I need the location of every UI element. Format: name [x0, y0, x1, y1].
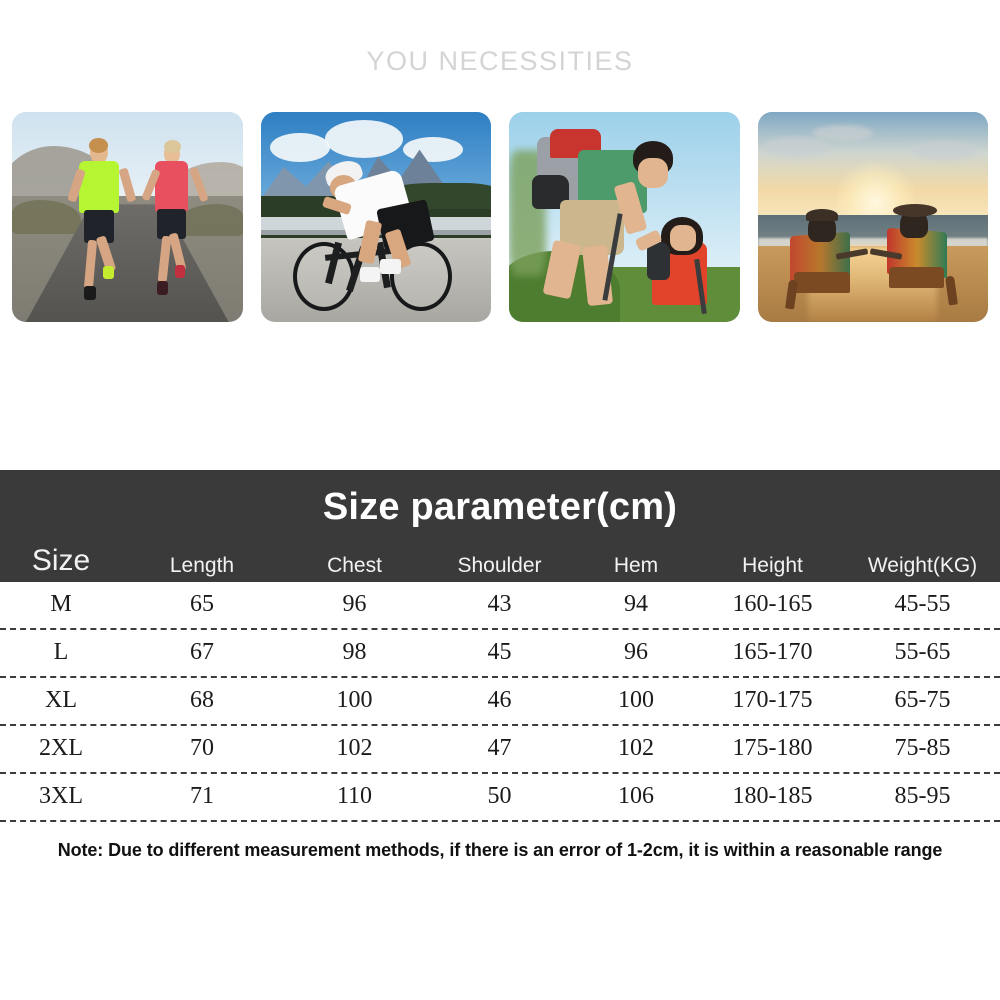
- column-header-weight: Weight(KG): [845, 554, 1000, 578]
- cell-length: 71: [122, 783, 282, 810]
- cycling-photo-scene: [261, 112, 492, 322]
- beach-photo: [758, 112, 989, 322]
- running-photo-scene: [12, 112, 243, 322]
- size-chart-header: Size parameter(cm) Size Length Chest Sho…: [0, 470, 1000, 582]
- cell-shoulder: 46: [427, 687, 572, 714]
- cell-hem: 94: [572, 591, 700, 618]
- hiking-photo-scene: [509, 112, 740, 322]
- cell-chest: 110: [282, 783, 427, 810]
- size-chart: Size parameter(cm) Size Length Chest Sho…: [0, 470, 1000, 925]
- cell-chest: 100: [282, 687, 427, 714]
- cell-size: L: [0, 639, 122, 666]
- cell-size: XL: [0, 687, 122, 714]
- column-header-hem: Hem: [572, 554, 700, 578]
- cell-hem: 106: [572, 783, 700, 810]
- column-header-length: Length: [122, 554, 282, 578]
- cell-weight: 85-95: [845, 783, 1000, 810]
- cell-weight: 55-65: [845, 639, 1000, 666]
- cell-chest: 98: [282, 639, 427, 666]
- cell-shoulder: 43: [427, 591, 572, 618]
- cell-hem: 102: [572, 735, 700, 762]
- table-row: M 65 96 43 94 160-165 45-55: [0, 582, 1000, 630]
- cell-size: 3XL: [0, 783, 122, 810]
- cell-weight: 65-75: [845, 687, 1000, 714]
- table-row: L 67 98 45 96 165-170 55-65: [0, 630, 1000, 678]
- lifestyle-photo-strip: [12, 112, 988, 322]
- cell-shoulder: 47: [427, 735, 572, 762]
- running-photo: [12, 112, 243, 322]
- cell-size: M: [0, 591, 122, 618]
- column-header-chest: Chest: [282, 554, 427, 578]
- cell-chest: 96: [282, 591, 427, 618]
- cell-weight: 45-55: [845, 591, 1000, 618]
- beach-photo-scene: [758, 112, 989, 322]
- cell-height: 165-170: [700, 639, 845, 666]
- cycling-photo: [261, 112, 492, 322]
- banner-title: YOU NECESSITIES: [0, 46, 1000, 77]
- table-row: 2XL 70 102 47 102 175-180 75-85: [0, 726, 1000, 774]
- cell-length: 67: [122, 639, 282, 666]
- cell-height: 175-180: [700, 735, 845, 762]
- column-header-size: Size: [0, 544, 122, 578]
- cell-length: 68: [122, 687, 282, 714]
- cell-length: 65: [122, 591, 282, 618]
- cell-length: 70: [122, 735, 282, 762]
- column-header-height: Height: [700, 554, 845, 578]
- cell-size: 2XL: [0, 735, 122, 762]
- size-chart-note: Note: Due to different measurement metho…: [0, 822, 1000, 861]
- cell-weight: 75-85: [845, 735, 1000, 762]
- cell-shoulder: 50: [427, 783, 572, 810]
- cell-height: 160-165: [700, 591, 845, 618]
- table-row: XL 68 100 46 100 170-175 65-75: [0, 678, 1000, 726]
- cell-hem: 96: [572, 639, 700, 666]
- hiking-photo: [509, 112, 740, 322]
- table-row: 3XL 71 110 50 106 180-185 85-95: [0, 774, 1000, 822]
- cell-chest: 102: [282, 735, 427, 762]
- cell-shoulder: 45: [427, 639, 572, 666]
- product-detail-page: YOU NECESSITIES: [0, 0, 1000, 1000]
- size-chart-title: Size parameter(cm): [0, 486, 1000, 536]
- size-chart-column-headers: Size Length Chest Shoulder Hem Height We…: [0, 536, 1000, 582]
- cell-height: 170-175: [700, 687, 845, 714]
- cell-hem: 100: [572, 687, 700, 714]
- banner: YOU NECESSITIES: [0, 46, 1000, 77]
- column-header-shoulder: Shoulder: [427, 554, 572, 578]
- cell-height: 180-185: [700, 783, 845, 810]
